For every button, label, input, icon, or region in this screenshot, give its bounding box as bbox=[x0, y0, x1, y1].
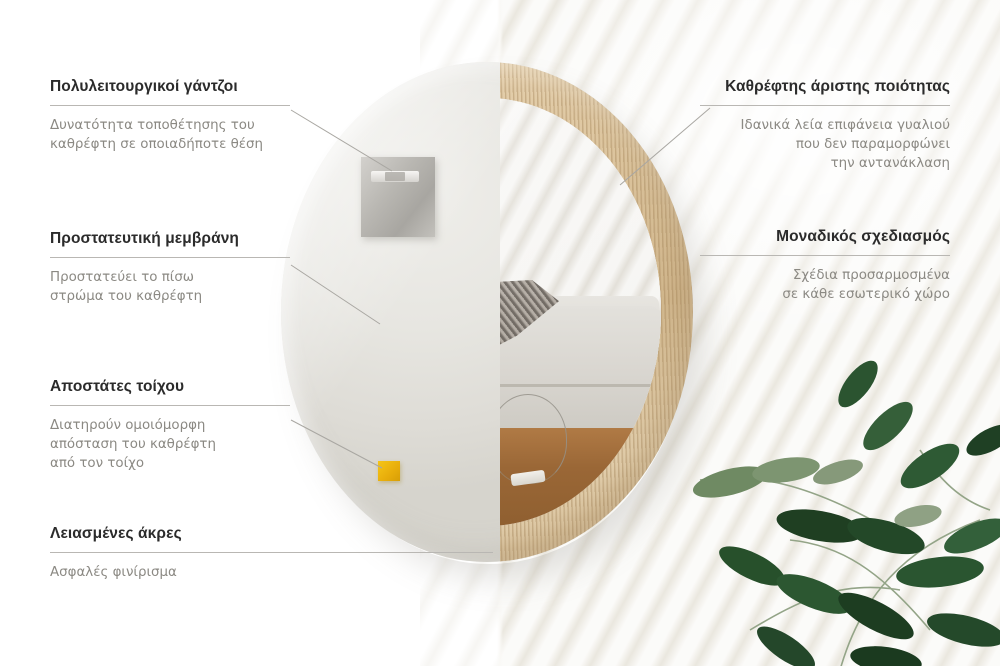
callout-rule bbox=[50, 552, 493, 553]
callout-rule bbox=[50, 257, 290, 258]
callout-multifunction-hooks: Πολυλειτουργικοί γάντζοι Δυνατότητα τοπο… bbox=[50, 78, 290, 154]
callout-rule bbox=[50, 105, 290, 106]
wall-spacer-pad bbox=[378, 461, 400, 481]
callout-wall-spacers: Αποστάτες τοίχου Διατηρούν ομοιόμορφη απ… bbox=[50, 378, 290, 473]
callout-description: Προστατεύει το πίσω στρώμα του καθρέφτη bbox=[50, 268, 290, 306]
callout-title: Πολυλειτουργικοί γάντζοι bbox=[50, 78, 290, 96]
foliage-svg bbox=[690, 330, 1000, 666]
callout-protective-membrane: Προστατευτική μεμβράνη Προστατεύει το πί… bbox=[50, 230, 290, 306]
callout-description: Ασφαλές φινίρισμα bbox=[50, 563, 493, 582]
infographic-canvas: Πολυλειτουργικοί γάντζοι Δυνατότητα τοπο… bbox=[0, 0, 1000, 666]
callout-title: Μοναδικός σχεδιασμός bbox=[700, 228, 950, 246]
leaf-group bbox=[690, 355, 1000, 666]
callout-smoothed-edges: Λειασμένες άκρες Ασφαλές φινίρισμα bbox=[50, 525, 493, 582]
product-mirror bbox=[281, 62, 693, 562]
hook-mounting-plate bbox=[361, 157, 435, 237]
callout-title: Λειασμένες άκρες bbox=[50, 525, 493, 543]
callout-rule bbox=[700, 105, 950, 106]
callout-top-quality-mirror: Καθρέφτης άριστης ποιότητας Ιδανικά λεία… bbox=[700, 78, 950, 173]
callout-description: Διατηρούν ομοιόμορφη απόσταση του καθρέφ… bbox=[50, 416, 290, 473]
hook-slot-icon bbox=[371, 171, 419, 182]
callout-rule bbox=[700, 255, 950, 256]
callout-description: Ιδανικά λεία επιφάνεια γυαλιού που δεν π… bbox=[700, 116, 950, 173]
callout-description: Δυνατότητα τοποθέτησης του καθρέφτη σε ο… bbox=[50, 116, 290, 154]
reflection-floor-lamp bbox=[489, 394, 567, 484]
green-plant-leaves bbox=[690, 330, 1000, 666]
callout-title: Προστατευτική μεμβράνη bbox=[50, 230, 290, 248]
callout-unique-design: Μοναδικός σχεδιασμός Σχέδια προσαρμοσμέν… bbox=[700, 228, 950, 304]
callout-title: Αποστάτες τοίχου bbox=[50, 378, 290, 396]
callout-title: Καθρέφτης άριστης ποιότητας bbox=[700, 78, 950, 96]
callout-description: Σχέδια προσαρμοσμένα σε κάθε εσωτερικό χ… bbox=[700, 266, 950, 304]
callout-rule bbox=[50, 405, 290, 406]
